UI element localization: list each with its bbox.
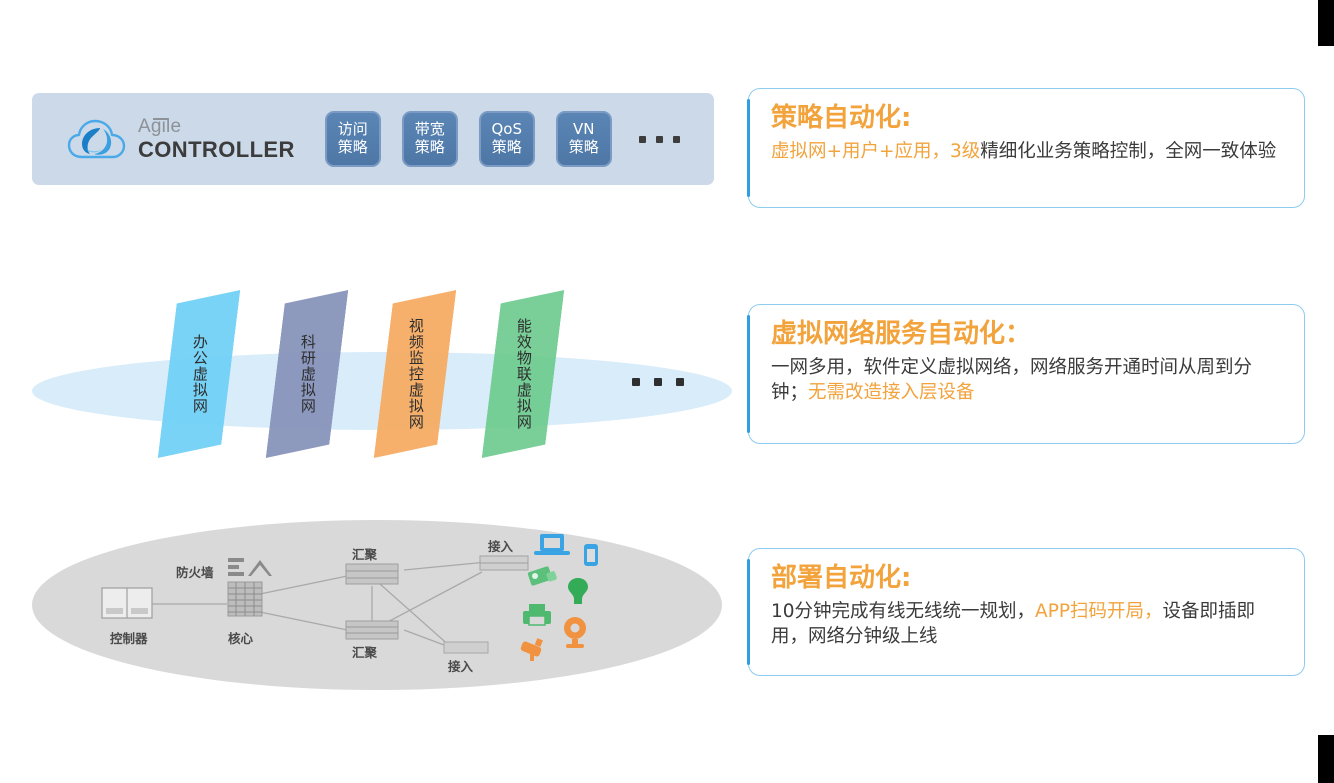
virtual-network-slab-office[interactable]: 办公虚拟网 — [158, 290, 241, 458]
agile-controller-bar: Agile CONTROLLER 访问 策略 带宽 策略 QoS 策略 VN 策… — [32, 93, 714, 185]
feature-card-body-policy-automation: 虚拟网+用户+应用，3级精细化业务策略控制，全网一致体验 — [771, 139, 1284, 164]
controller-device-icon — [102, 588, 152, 618]
topology-label-aggregation-top: 汇聚 — [352, 544, 377, 563]
virtual-network-slab-energy[interactable]: 能效物联虚拟网 — [482, 290, 565, 458]
topology-label-access-top: 接入 — [488, 536, 513, 555]
feature-card-body-highlight-1: 虚拟网+用户+应用，3级 — [771, 141, 980, 162]
policy-button-bandwidth-line2: 策略 — [415, 139, 445, 157]
feature-card-title-deployment-automation: 部署自动化: — [771, 563, 1284, 594]
topology-label-access-bottom: 接入 — [448, 656, 473, 675]
feature-card-body-plain-3a: 10分钟完成有线无线统一规划， — [771, 601, 1035, 622]
policy-button-access[interactable]: 访问 策略 — [325, 111, 381, 167]
agile-controller-logo: Agile CONTROLLER — [66, 115, 295, 163]
laptop-icon — [534, 534, 570, 555]
topology-label-aggregation-bottom: 汇聚 — [352, 642, 377, 661]
security-camera-icon — [520, 638, 543, 661]
webcam-icon — [564, 617, 586, 648]
feature-card-virtual-network-service-automation: 虚拟网络服务自动化： 一网多用，软件定义虚拟网络，网络服务开通时间从周到分钟；无… — [748, 304, 1305, 444]
feature-card-policy-automation: 策略自动化: 虚拟网+用户+应用，3级精细化业务策略控制，全网一致体验 — [748, 88, 1305, 208]
slab-face-video — [374, 290, 457, 458]
edge-bar-bottom — [1318, 735, 1334, 783]
card-accent-bar — [747, 99, 750, 197]
topology-label-firewall: 防火墙 — [176, 562, 214, 581]
feature-card-body-deployment-automation: 10分钟完成有线无线统一规划，APP扫码开局，设备即插即用，网络分钟级上线 — [771, 599, 1284, 649]
policy-button-access-line1: 访问 — [338, 121, 368, 139]
feature-card-body-highlight-2: 无需改造接入层设备 — [808, 382, 975, 403]
policy-button-access-line2: 策略 — [338, 139, 368, 157]
policy-more-ellipsis-icon[interactable] — [639, 136, 680, 143]
access-switch-bottom-icon — [444, 642, 488, 653]
card-accent-bar — [747, 559, 750, 665]
agile-controller-wordmark: Agile CONTROLLER — [138, 117, 295, 161]
firewall-device-icon — [228, 558, 272, 576]
edge-bar-top — [1318, 0, 1334, 46]
feature-card-title-policy-automation: 策略自动化: — [771, 103, 1284, 134]
card-accent-bar — [747, 315, 750, 433]
feature-card-title-vn-service-automation: 虚拟网络服务自动化： — [771, 319, 1284, 350]
policy-button-qos[interactable]: QoS 策略 — [479, 111, 535, 167]
access-switch-top-icon — [480, 556, 528, 570]
feature-card-body-highlight-3: APP扫码开局， — [1035, 601, 1162, 622]
slab-face-office — [158, 290, 241, 458]
feature-card-deployment-automation: 部署自动化: 10分钟完成有线无线统一规划，APP扫码开局，设备即插即用，网络分… — [748, 548, 1305, 676]
policy-button-vn-line2: 策略 — [569, 139, 599, 157]
aggregation-switch-top-icon — [346, 564, 398, 584]
bulb-icon — [568, 578, 588, 604]
printer-icon — [523, 604, 551, 625]
topology-label-core: 核心 — [228, 628, 253, 647]
slab-face-energy — [482, 290, 565, 458]
policy-button-qos-line1: QoS — [492, 121, 523, 139]
policy-button-qos-line2: 策略 — [492, 139, 522, 157]
slide-canvas: Agile CONTROLLER 访问 策略 带宽 策略 QoS 策略 VN 策… — [0, 0, 1334, 783]
feature-card-body-vn-service-automation: 一网多用，软件定义虚拟网络，网络服务开通时间从周到分钟；无需改造接入层设备 — [771, 355, 1284, 405]
logo-controller-text: CONTROLLER — [138, 139, 295, 161]
slab-face-research — [266, 290, 349, 458]
projector-icon — [527, 566, 557, 586]
macron-mark — [153, 118, 168, 120]
feature-card-body-plain-1: 精细化业务策略控制，全网一致体验 — [980, 141, 1276, 162]
virtual-network-diagram: 办公虚拟网 科研虚拟网 视频监控虚拟网 能效物联虚拟网 — [32, 290, 732, 490]
policy-button-vn[interactable]: VN 策略 — [556, 111, 612, 167]
policy-button-group: 访问 策略 带宽 策略 QoS 策略 VN 策略 — [325, 111, 680, 167]
policy-button-vn-line1: VN — [573, 121, 594, 139]
virtual-network-more-ellipsis-icon[interactable] — [632, 378, 684, 386]
smartphone-icon — [584, 544, 598, 566]
cloud-swirl-icon — [66, 115, 128, 163]
topology-label-controller: 控制器 — [110, 628, 148, 647]
virtual-network-slab-research[interactable]: 科研虚拟网 — [266, 290, 349, 458]
aggregation-switch-bottom-icon — [346, 621, 398, 639]
core-switch-device-icon — [228, 582, 262, 616]
network-topology-diagram: 控制器 防火墙 核心 汇聚 汇聚 接入 接入 — [32, 520, 722, 690]
logo-agile-text: Agile — [138, 117, 181, 136]
virtual-network-slab-video[interactable]: 视频监控虚拟网 — [374, 290, 457, 458]
policy-button-bandwidth[interactable]: 带宽 策略 — [402, 111, 458, 167]
policy-button-bandwidth-line1: 带宽 — [415, 121, 445, 139]
